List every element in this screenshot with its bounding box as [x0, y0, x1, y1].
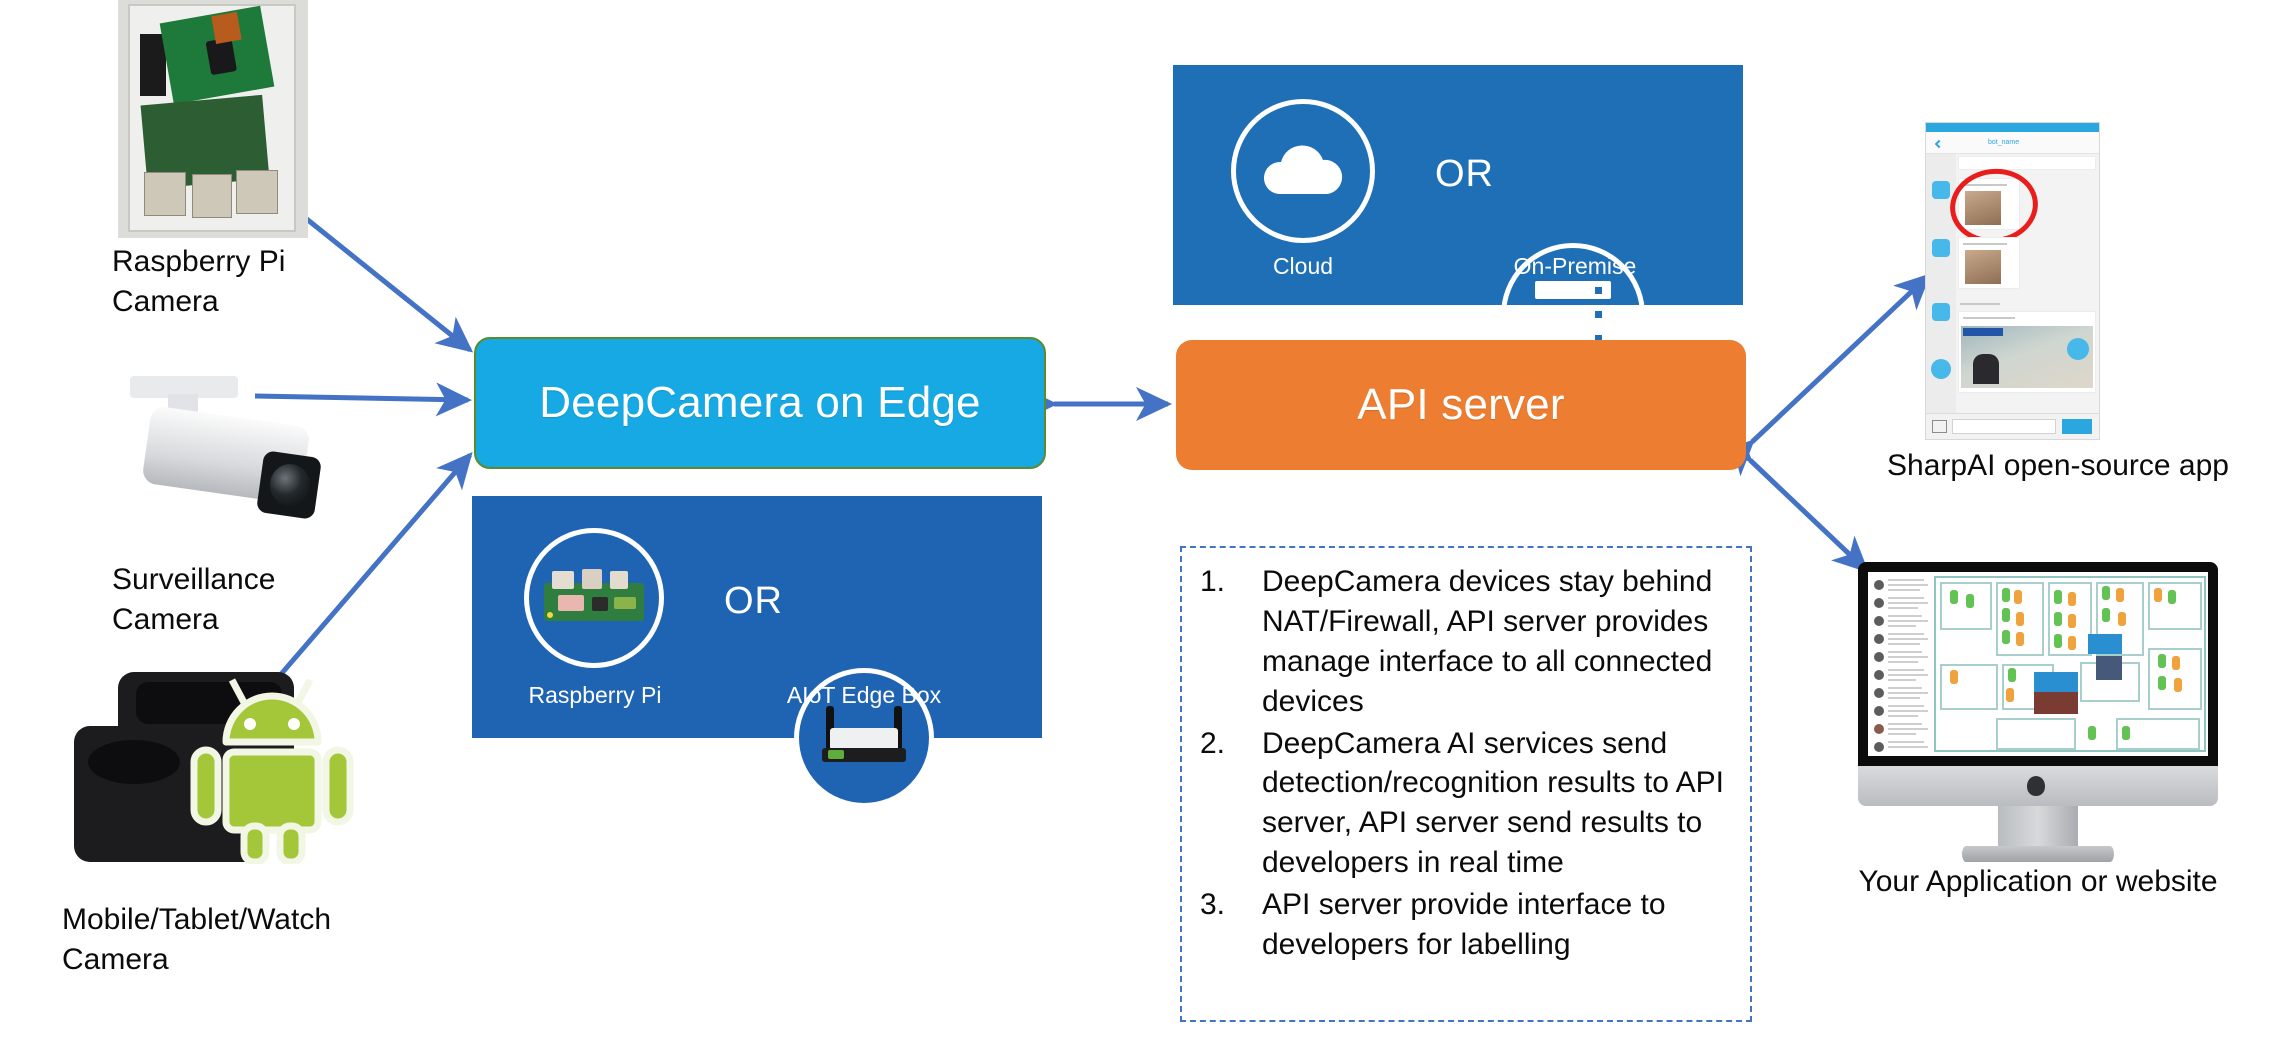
note-text: DeepCamera devices stay behind NAT/Firew…: [1262, 562, 1740, 722]
api-server-box[interactable]: API server: [1176, 340, 1746, 470]
edge-hardware-panel: Raspberry Pi OR AIoT Edge Box: [472, 496, 1042, 738]
deepcamera-on-edge-label: DeepCamera on Edge: [539, 378, 980, 428]
notes-box: 1. DeepCamera devices stay behind NAT/Fi…: [1180, 546, 1752, 1022]
list-item: [1958, 311, 2096, 393]
sharpai-app-screenshot: bot_name: [1925, 122, 2100, 440]
deepcamera-on-edge-box[interactable]: DeepCamera on Edge: [474, 337, 1046, 469]
map-popup: [2034, 672, 2078, 692]
note-number: 2.: [1200, 724, 1262, 884]
raspberry-pi-option-label: Raspberry Pi: [492, 682, 698, 709]
list-item: 3. API server provide interface to devel…: [1200, 885, 1740, 965]
architecture-diagram: Raspberry Pi Camera Surveillance Camera: [0, 0, 2292, 1062]
image-picker-icon[interactable]: [1932, 420, 1947, 433]
cloud-option-label: Cloud: [1209, 253, 1397, 280]
sharpai-app-label: SharpAI open-source app: [1878, 446, 2238, 486]
avatar: [1932, 239, 1950, 257]
face-thumbnail: [1965, 250, 2001, 284]
app-nav-title: bot_name: [1988, 139, 2019, 146]
list-item: [1958, 237, 2020, 289]
api-server-label: API server: [1357, 380, 1564, 430]
apple-logo-icon: [2027, 776, 2045, 796]
map-popup: [2096, 656, 2122, 680]
back-chevron-icon[interactable]: [1935, 140, 1943, 148]
arrow-api-to-website: [1750, 460, 1866, 570]
app-nav-bar: bot_name: [1926, 132, 2099, 154]
android-robot-icon: [188, 668, 358, 864]
cloud-icon: [1231, 99, 1375, 243]
your-application-monitor: [1858, 562, 2218, 872]
red-annotation-circle: [1945, 163, 2042, 249]
detection-list: [1868, 572, 1932, 756]
edge-or-label: OR: [724, 580, 783, 623]
list-item: 2. DeepCamera AI services send detection…: [1200, 724, 1740, 884]
surveillance-camera-label: Surveillance Camera: [112, 560, 372, 639]
avatar: [1932, 303, 1950, 321]
app-input-bar: [1926, 413, 2099, 439]
note-number: 1.: [1200, 562, 1262, 722]
message-input[interactable]: [1952, 419, 2056, 434]
map-popup: [2034, 692, 2078, 714]
edge-box-option-label: AIoT Edge Box: [758, 682, 970, 709]
surveillance-camera-image: [112, 372, 342, 532]
floor-plan-map: [1934, 576, 2206, 752]
arrow-api-to-app: [1752, 276, 1928, 442]
cloud-or-label: OR: [1435, 153, 1494, 196]
avatar: [1931, 359, 1951, 379]
mobile-camera-image: [62, 668, 358, 868]
raspberry-pi-icon: [524, 528, 664, 668]
avatar: [1932, 181, 1950, 199]
raspberry-pi-camera-label: Raspberry Pi Camera: [112, 242, 372, 321]
send-button[interactable]: [2062, 419, 2092, 434]
mobile-camera-label: Mobile/Tablet/Watch Camera: [62, 900, 442, 979]
list-item: 1. DeepCamera devices stay behind NAT/Fi…: [1200, 562, 1740, 722]
person-badge-icon: [2067, 338, 2089, 360]
note-text: DeepCamera AI services send detection/re…: [1262, 724, 1740, 884]
list-item: [1958, 156, 2096, 170]
cloud-or-onpremise-panel: Cloud OR On-Premise: [1173, 65, 1743, 305]
note-text: API server provide interface to develope…: [1262, 885, 1740, 965]
raspberry-pi-camera-image: [118, 0, 308, 238]
onpremise-option-label: On-Premise: [1473, 253, 1677, 280]
map-popup: [2088, 634, 2122, 654]
note-number: 3.: [1200, 885, 1262, 965]
app-status-bar: [1926, 123, 2099, 132]
notes-list: 1. DeepCamera devices stay behind NAT/Fi…: [1182, 548, 1750, 977]
your-application-label: Your Application or website: [1838, 862, 2238, 902]
